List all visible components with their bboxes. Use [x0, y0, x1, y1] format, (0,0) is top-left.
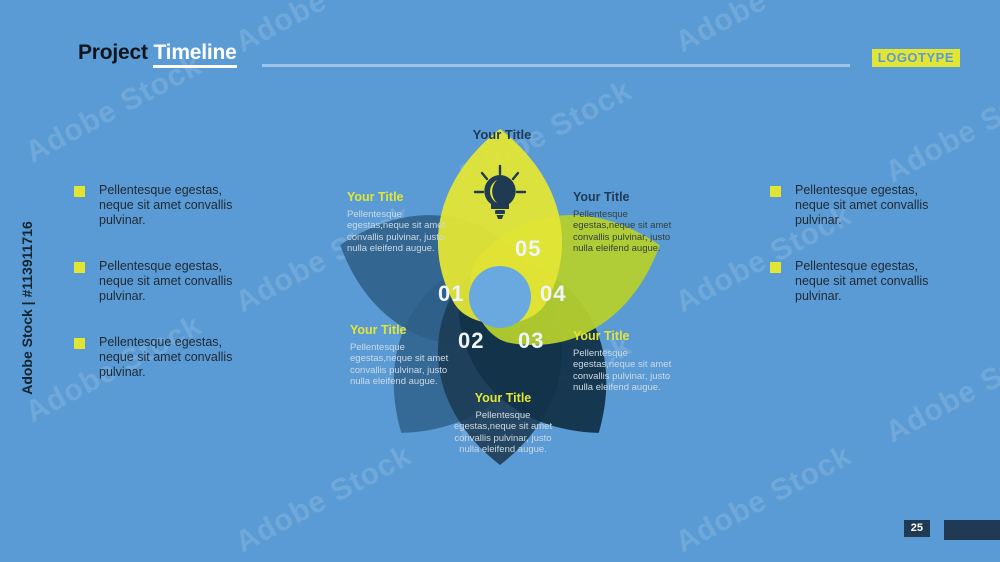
watermark: Adobe Stock [880, 69, 1000, 190]
bullet-square-icon [74, 262, 85, 273]
page-title-part1: Project [78, 41, 148, 64]
center-hub[interactable] [469, 266, 531, 328]
bullet-square-icon [770, 262, 781, 273]
list-item-label: Pellentesque egestas, neque sit amet con… [99, 183, 254, 228]
watermark: Adobe Stock [880, 329, 1000, 450]
petal-diagram-shapes [290, 85, 710, 505]
left-bullet-list: Pellentesque egestas, neque sit amet con… [74, 183, 254, 411]
page-number-badge: 25 [904, 520, 930, 537]
bullet-square-icon [770, 186, 781, 197]
page-title-part2: Timeline [153, 41, 236, 68]
bullet-square-icon [74, 186, 85, 197]
right-bullet-list: Pellentesque egestas, neque sit amet con… [770, 183, 950, 335]
petal-diagram: Your Title Your Title Pellentesque egest… [290, 85, 710, 505]
slide-canvas: Adobe Stock Adobe Stock Adobe Stock Adob… [0, 0, 1000, 562]
slide-header: Project Timeline LOGOTYPE [0, 0, 1000, 86]
bullet-square-icon [74, 338, 85, 349]
page-title: Project Timeline [78, 41, 237, 65]
logotype: LOGOTYPE [872, 49, 960, 67]
list-item-label: Pellentesque egestas, neque sit amet con… [795, 183, 950, 228]
list-item: Pellentesque egestas, neque sit amet con… [770, 259, 950, 304]
list-item: Pellentesque egestas, neque sit amet con… [74, 183, 254, 228]
list-item: Pellentesque egestas, neque sit amet con… [770, 183, 950, 228]
list-item-label: Pellentesque egestas, neque sit amet con… [795, 259, 950, 304]
header-divider [262, 64, 850, 67]
list-item: Pellentesque egestas, neque sit amet con… [74, 335, 254, 380]
list-item-label: Pellentesque egestas, neque sit amet con… [99, 259, 254, 304]
footer-bar [944, 520, 1000, 540]
stock-credit: Adobe Stock | #113911716 [19, 198, 35, 418]
list-item-label: Pellentesque egestas, neque sit amet con… [99, 335, 254, 380]
list-item: Pellentesque egestas, neque sit amet con… [74, 259, 254, 304]
